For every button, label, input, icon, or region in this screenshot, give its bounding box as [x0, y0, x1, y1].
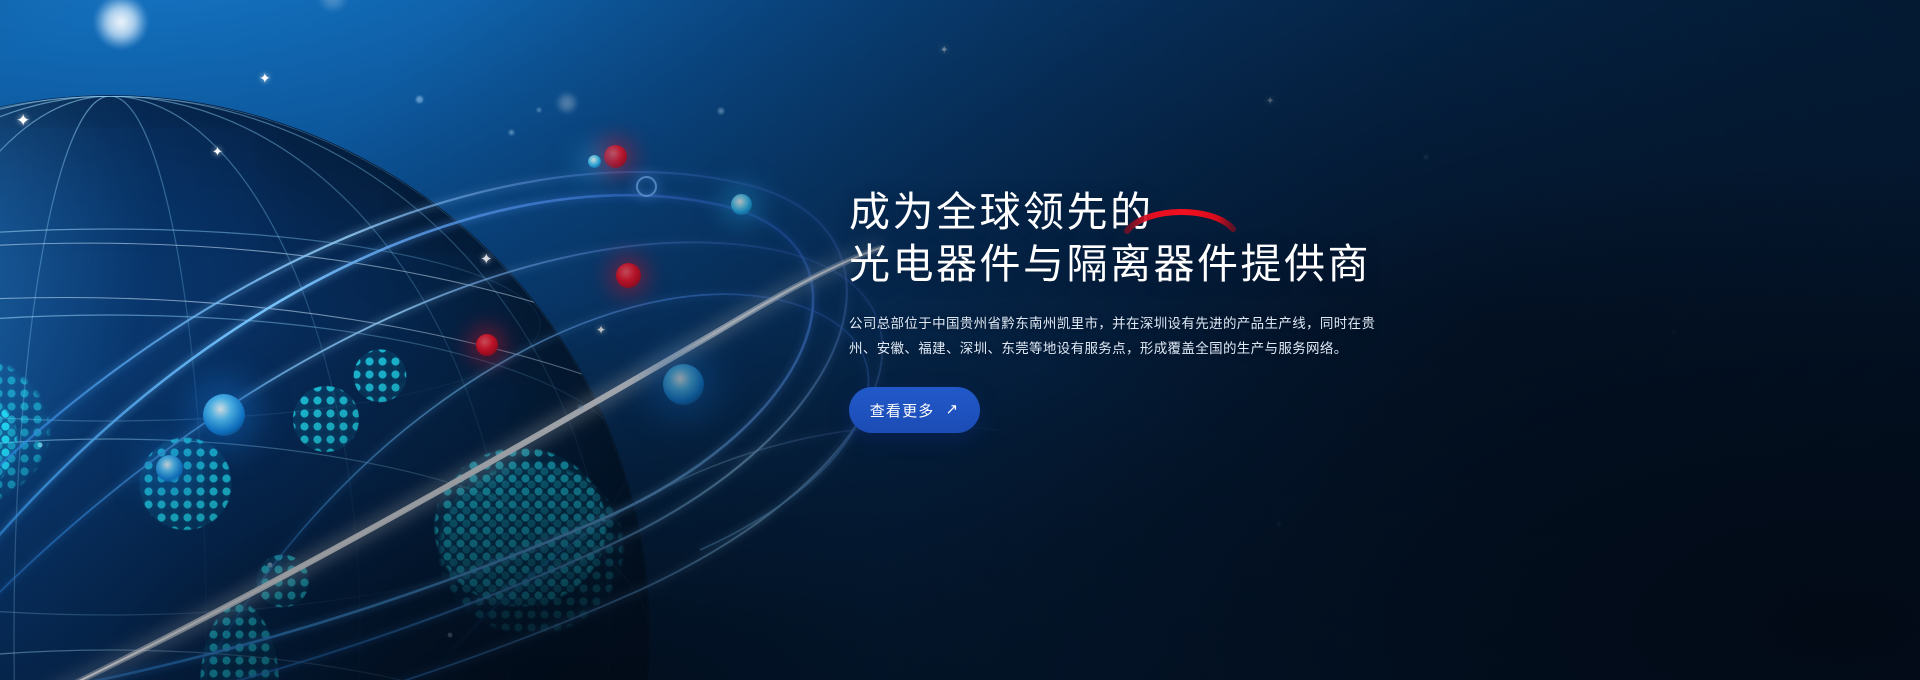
- hero-banner: ✦ ✦ ✦ ✦ ✦ ✦ ✦ 成为全球领先的: [0, 0, 1920, 680]
- hero-headline: 成为全球领先的 光电器件与隔离器件提供商: [849, 186, 1679, 290]
- headline-line-2: 光电器件与隔离器件提供商: [849, 238, 1679, 290]
- headline-line-1: 成为全球领先的: [849, 186, 1679, 238]
- view-more-button[interactable]: 查看更多 ↗: [849, 387, 980, 433]
- view-more-label: 查看更多: [870, 400, 935, 421]
- hero-description: 公司总部位于中国贵州省黔东南州凯里市，并在深圳设有先进的产品生产线，同时在贵州、…: [849, 311, 1389, 361]
- arrow-up-right-icon: ↗: [946, 402, 960, 417]
- hero-content: 成为全球领先的 光电器件与隔离器件提供商 公司总部位于中国贵州省黔东南州凯里市，…: [849, 186, 1679, 433]
